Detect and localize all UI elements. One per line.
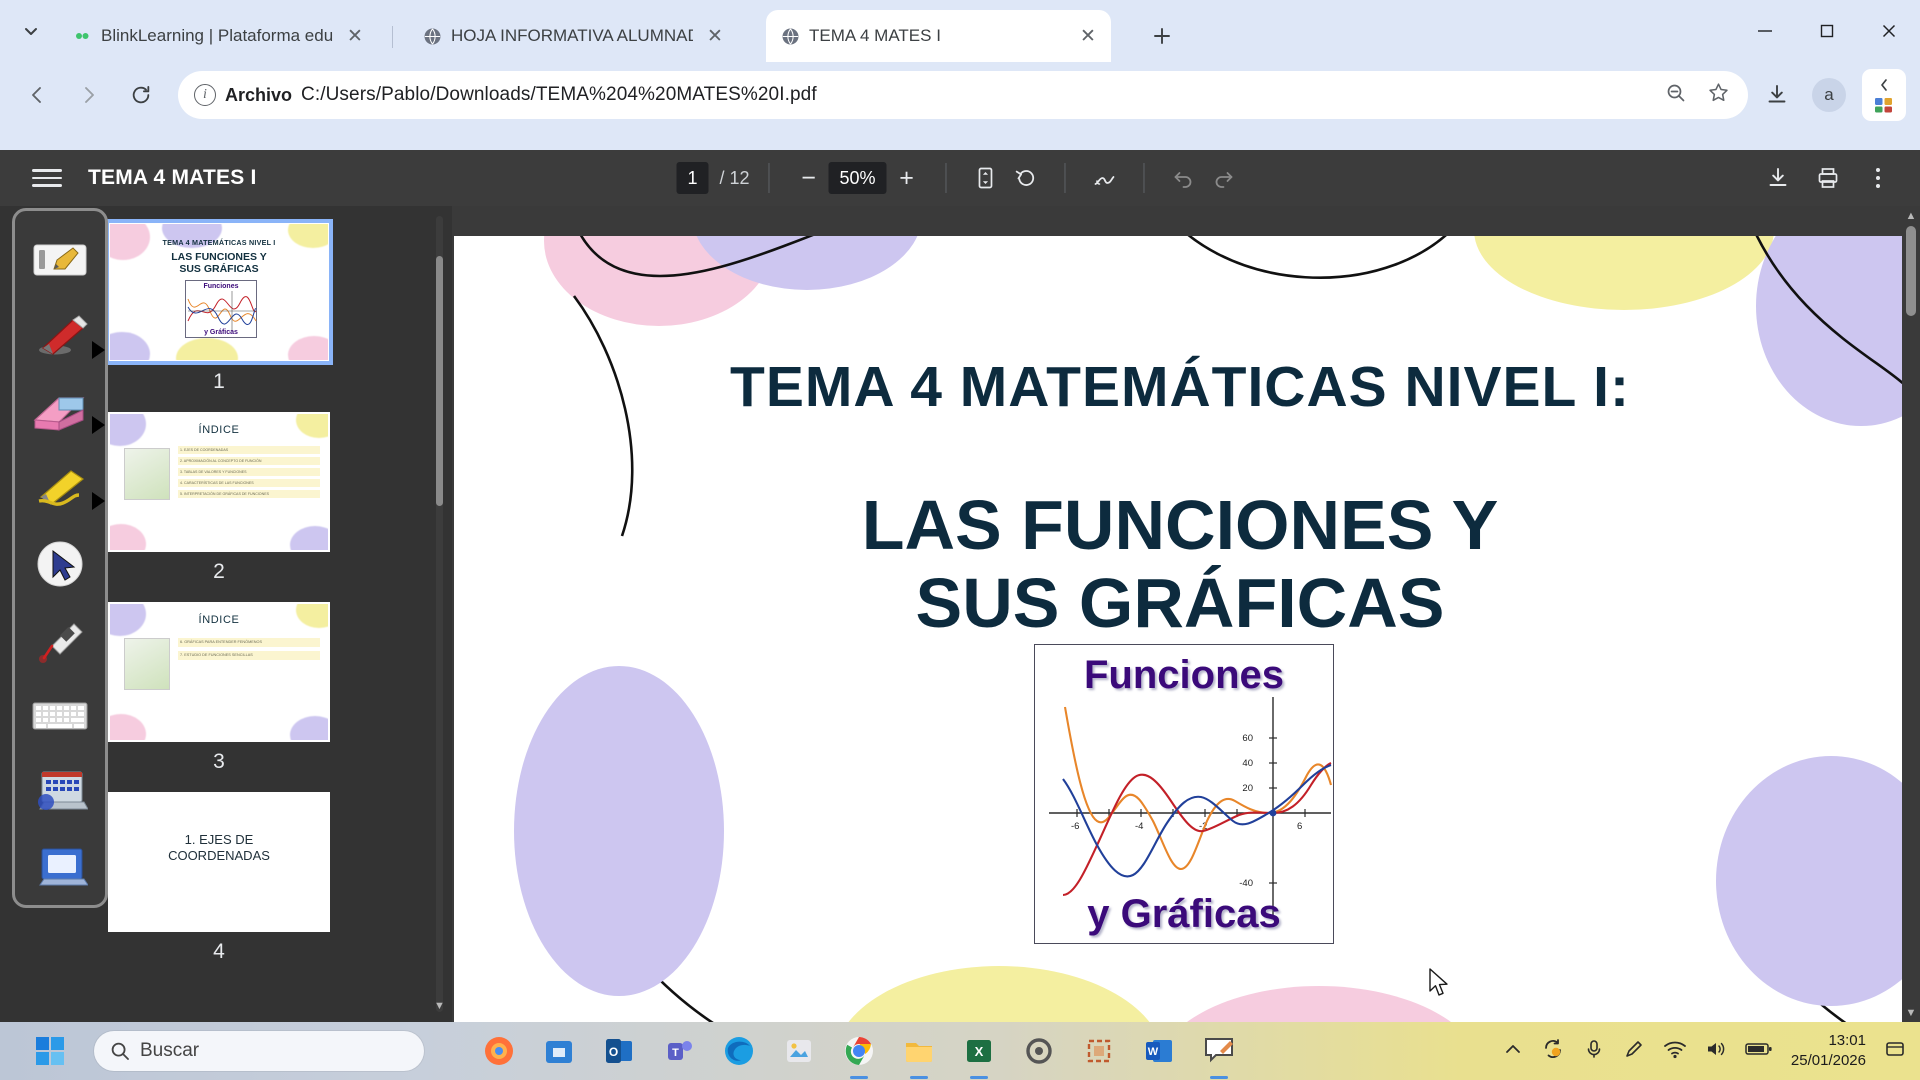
minimize-button[interactable]: [1734, 0, 1796, 62]
start-icon: [36, 1037, 64, 1065]
screen-capture-icon: [32, 768, 88, 814]
page-pane: TEMA 4 MATEMÁTICAS NIVEL I: LAS FUNCIONE…: [452, 206, 1920, 1022]
screen-record-tool[interactable]: [17, 829, 103, 905]
new-tab-button[interactable]: [1140, 14, 1184, 58]
close-icon[interactable]: ✕: [1075, 23, 1101, 49]
zoom-in-button[interactable]: +: [887, 158, 927, 198]
laser-pointer-icon: [32, 616, 88, 664]
mini-heading: ÍNDICE: [110, 424, 328, 436]
close-icon[interactable]: ✕: [342, 23, 368, 49]
mini-title-1: TEMA 4 MATEMÁTICAS NIVEL I: [110, 238, 328, 247]
on-screen-keyboard-tool[interactable]: [17, 678, 103, 754]
mini-index-item: 7. ESTUDIO DE FUNCIONES SENCILLAS: [178, 651, 320, 660]
thumbnail-page-2[interactable]: ÍNDICE 1. EJES DE COORDENADAS 2. APROXIM…: [108, 412, 330, 584]
more-vertical-icon[interactable]: [1858, 158, 1898, 198]
blob-purple-left: [514, 666, 724, 996]
taskbar-clock[interactable]: 13:01 25/01/2026: [1791, 1031, 1866, 1072]
print-icon[interactable]: [1808, 158, 1848, 198]
back-icon[interactable]: [14, 72, 60, 118]
svg-text:W: W: [1148, 1046, 1159, 1058]
taskbar-apps: O T X: [476, 1028, 1242, 1074]
scrollbar-thumb[interactable]: [1906, 226, 1916, 316]
mini-index-item: 4. CARACTERÍSTICAS DE LAS FUNCIONES: [178, 479, 320, 487]
edge-icon[interactable]: [716, 1028, 762, 1074]
globe-icon: [422, 26, 442, 46]
pdf-body: TEMA 4 MATEMÁTICAS NIVEL I LAS FUNCIONES…: [0, 206, 1920, 1022]
page-total-label: / 12: [719, 168, 749, 189]
whiteboard-icon[interactable]: [1196, 1028, 1242, 1074]
address-bar[interactable]: i Archivo C:/Users/Pablo/Downloads/TEMA%…: [178, 71, 1748, 119]
mini-section-title: 1. EJES DE COORDENADAS: [110, 832, 328, 865]
forward-icon[interactable]: [66, 72, 112, 118]
whiteboard-pen-icon: [32, 241, 88, 281]
store-icon[interactable]: [536, 1028, 582, 1074]
url-text: C:/Users/Pablo/Downloads/TEMA%204%20MATE…: [301, 84, 817, 106]
clock-date: 25/01/2026: [1791, 1051, 1866, 1071]
chevron-right-icon[interactable]: [92, 492, 105, 510]
window-controls: [1734, 0, 1920, 62]
laser-pointer-tool[interactable]: [17, 602, 103, 678]
tab-search-icon[interactable]: [10, 10, 52, 52]
chrome-icon[interactable]: [836, 1028, 882, 1074]
teams-icon[interactable]: T: [656, 1028, 702, 1074]
svg-text:O: O: [609, 1045, 618, 1059]
snipping-tool-icon[interactable]: [1076, 1028, 1122, 1074]
volume-icon[interactable]: [1705, 1039, 1727, 1064]
mini-figure: Funciones y Gráficas: [185, 280, 257, 338]
page-scrollbar[interactable]: ▲ ▼: [1902, 206, 1920, 1022]
slide-title-block: LAS FUNCIONES Y SUS GRÁFICAS: [454, 486, 1906, 643]
mini-slide-cover: TEMA 4 MATEMÁTICAS NIVEL I LAS FUNCIONES…: [110, 224, 328, 360]
chart-series-orange: [1065, 707, 1331, 869]
scrollbar-track: [1906, 224, 1916, 1004]
slide-title-line-2: LAS FUNCIONES Y: [862, 486, 1499, 564]
svg-text:-4: -4: [1135, 821, 1143, 832]
pen-icon[interactable]: [1623, 1038, 1645, 1065]
thumbnail-preview: ÍNDICE 1. EJES DE COORDENADAS 2. APROXIM…: [108, 412, 330, 552]
chart-axes: [1049, 697, 1331, 915]
svg-text:-40: -40: [1239, 878, 1253, 889]
close-icon[interactable]: ✕: [702, 23, 728, 49]
thumbnail-preview: 1. EJES DE COORDENADAS: [108, 792, 330, 932]
figure-caption-bottom: y Gráficas: [1035, 892, 1333, 937]
highlighter-tool[interactable]: [17, 450, 103, 526]
tab-title: TEMA 4 MATES I: [809, 26, 1066, 46]
mini-index-items: 1. EJES DE COORDENADAS 2. APROXIMACIÓN A…: [178, 446, 320, 501]
mini-slide-index: ÍNDICE 1. EJES DE COORDENADAS 2. APROXIM…: [110, 414, 328, 550]
omnibox-bar: i Archivo C:/Users/Pablo/Downloads/TEMA%…: [0, 62, 1920, 128]
browser-tab-1[interactable]: BlinkLearning | Plataforma educ ✕: [58, 10, 378, 62]
mini-section-line-1: 1. EJES DE: [185, 832, 254, 847]
chevron-right-icon[interactable]: [92, 341, 105, 359]
svg-text:20: 20: [1242, 783, 1253, 794]
chevron-up-icon[interactable]: [1503, 1039, 1523, 1064]
clock-time: 13:01: [1791, 1031, 1866, 1051]
thumbnail-number: 1: [108, 370, 330, 394]
chevron-right-icon[interactable]: [92, 416, 105, 434]
cursor-select-tool[interactable]: [17, 526, 103, 602]
extensions-icon: [1873, 96, 1895, 114]
mini-index-item: 2. APROXIMACIÓN AL CONCEPTO DE FUNCIÓN: [178, 457, 320, 465]
thumbnail-number: 4: [108, 940, 330, 964]
mini-heading: ÍNDICE: [110, 614, 328, 626]
pdf-toolbar-right: [1758, 158, 1920, 198]
highlighter-icon: [29, 465, 91, 511]
search-placeholder: Buscar: [140, 1040, 199, 1062]
redo-icon[interactable]: [1204, 158, 1244, 198]
omnibox-actions: [1665, 81, 1734, 109]
divider: [1065, 163, 1066, 193]
chrome-window: BlinkLearning | Plataforma educ ✕ HOJA I…: [0, 0, 1920, 1022]
chevron-left-icon: [1874, 77, 1894, 93]
mini-title-3: SUS GRÁFICAS: [110, 263, 328, 275]
chart-series-red: [1063, 763, 1331, 895]
tab-strip: BlinkLearning | Plataforma educ ✕ HOJA I…: [0, 0, 1920, 62]
sync-icon[interactable]: [1541, 1037, 1565, 1066]
thumbnail-preview: TEMA 4 MATEMÁTICAS NIVEL I LAS FUNCIONES…: [108, 222, 330, 362]
file-explorer-icon[interactable]: [896, 1028, 942, 1074]
thumbnail-scrollbar[interactable]: ▲ ▼: [433, 216, 445, 1012]
mini-slide-section: 1. EJES DE COORDENADAS: [110, 794, 328, 930]
firefox-icon[interactable]: [476, 1028, 522, 1074]
functions-figure: Funciones: [1034, 644, 1334, 944]
close-button[interactable]: [1858, 0, 1920, 62]
keyboard-icon: [32, 701, 88, 731]
svg-text:X: X: [975, 1044, 984, 1059]
zoom-out-icon[interactable]: [1665, 82, 1687, 109]
mini-index-items: 6. GRÁFICAS PARA ENTENDER FENÓMENOS 7. E…: [178, 638, 320, 664]
reload-icon[interactable]: [118, 72, 164, 118]
svg-text:-6: -6: [1071, 821, 1079, 832]
mini-title-2: LAS FUNCIONES Y: [110, 251, 328, 263]
thumbnail-number: 3: [108, 750, 330, 774]
mini-index-item: 6. GRÁFICAS PARA ENTENDER FENÓMENOS: [178, 638, 320, 647]
annotation-toolbar: [12, 208, 108, 908]
svg-text:T: T: [672, 1047, 679, 1059]
scroll-down-icon[interactable]: ▼: [433, 999, 446, 1012]
profile-avatar[interactable]: a: [1806, 72, 1852, 118]
slide-title-line-1: TEMA 4 MATEMÁTICAS NIVEL I:: [454, 354, 1906, 420]
globe-icon: [780, 26, 800, 46]
photos-icon[interactable]: [776, 1028, 822, 1074]
mini-illustration: [124, 638, 170, 690]
zoom-out-button[interactable]: −: [789, 158, 829, 198]
thumbnail-page-3[interactable]: ÍNDICE 6. GRÁFICAS PARA ENTENDER FENÓMEN…: [108, 602, 330, 774]
whiteboard-pen-tool[interactable]: [17, 223, 103, 299]
windows-taskbar: Buscar O T: [0, 1022, 1920, 1080]
scroll-up-icon[interactable]: ▲: [1905, 209, 1917, 222]
info-icon[interactable]: i: [194, 84, 216, 106]
thumbnail-preview: ÍNDICE 6. GRÁFICAS PARA ENTENDER FENÓMEN…: [108, 602, 330, 742]
mini-section-line-2: COORDENADAS: [168, 848, 270, 863]
divider: [946, 163, 947, 193]
taskbar-search[interactable]: Buscar: [94, 1031, 424, 1071]
star-icon[interactable]: [1707, 81, 1730, 109]
download-icon[interactable]: [1758, 158, 1798, 198]
screen-capture-tool[interactable]: [17, 753, 103, 829]
svg-text:40: 40: [1242, 758, 1253, 769]
thumbnail-page-4[interactable]: 1. EJES DE COORDENADAS 4: [108, 792, 330, 964]
cursor-icon: [34, 538, 86, 590]
screen: BlinkLearning | Plataforma educ ✕ HOJA I…: [0, 0, 1920, 1080]
chart-origin-marker: [1270, 810, 1277, 817]
mini-illustration: [124, 448, 170, 500]
microphone-icon[interactable]: [1583, 1038, 1605, 1065]
scrollbar-thumb[interactable]: [436, 256, 443, 506]
outlook-icon[interactable]: O: [596, 1028, 642, 1074]
avatar: a: [1812, 78, 1846, 112]
thumbnail-page-1[interactable]: TEMA 4 MATEMÁTICAS NIVEL I LAS FUNCIONES…: [108, 222, 330, 394]
thumbnail-number: 2: [108, 560, 330, 584]
tab-divider: [392, 26, 393, 48]
page-number-input[interactable]: 1: [676, 162, 708, 194]
divider: [769, 163, 770, 193]
maximize-button[interactable]: [1796, 0, 1858, 62]
settings-icon[interactable]: [1016, 1028, 1062, 1074]
svg-text:60: 60: [1242, 733, 1253, 744]
word-icon[interactable]: W: [1136, 1028, 1182, 1074]
pdf-page-canvas[interactable]: TEMA 4 MATEMÁTICAS NIVEL I: LAS FUNCIONE…: [454, 236, 1906, 1022]
pdf-viewer: TEMA 4 MATES I 1 / 12 − 50% +: [0, 150, 1920, 1022]
annotate-icon[interactable]: [1085, 158, 1125, 198]
zoom-level-value[interactable]: 50%: [829, 162, 887, 194]
mini-index-item: 3. TABLAS DE VALORES Y FUNCIONES: [178, 468, 320, 476]
tab-title: BlinkLearning | Plataforma educ: [101, 26, 333, 46]
wifi-icon[interactable]: [1663, 1039, 1687, 1064]
download-icon[interactable]: [1754, 72, 1800, 118]
undo-icon[interactable]: [1164, 158, 1204, 198]
divider: [1144, 163, 1145, 193]
hamburger-icon[interactable]: [32, 169, 62, 186]
notification-icon[interactable]: [1884, 1038, 1906, 1065]
start-button[interactable]: [22, 1037, 78, 1065]
eraser-icon: [29, 390, 91, 434]
mini-index-item: 5. INTERPRETACIÓN DE GRÁFICAS DE FUNCION…: [178, 490, 320, 498]
red-pen-icon: [29, 314, 91, 360]
eraser-tool[interactable]: [17, 375, 103, 451]
excel-icon[interactable]: X: [956, 1028, 1002, 1074]
rotate-icon[interactable]: [1006, 158, 1046, 198]
slide-title-line-3: SUS GRÁFICAS: [916, 564, 1445, 642]
scroll-down-icon[interactable]: ▼: [1905, 1006, 1917, 1019]
pdf-toolbar: TEMA 4 MATES I 1 / 12 − 50% +: [0, 150, 1920, 206]
search-icon: [110, 1041, 130, 1061]
pdf-document-title: TEMA 4 MATES I: [88, 166, 256, 190]
pdf-toolbar-center: 1 / 12 − 50% +: [676, 158, 1243, 198]
browser-tab-2[interactable]: HOJA INFORMATIVA ALUMNAD ✕: [408, 10, 738, 62]
scheme-label: Archivo: [225, 85, 292, 106]
fit-page-icon[interactable]: [966, 158, 1006, 198]
blinklearning-icon: [72, 26, 92, 46]
battery-icon[interactable]: [1745, 1041, 1773, 1062]
svg-text:6: 6: [1297, 821, 1302, 832]
tab-title: HOJA INFORMATIVA ALUMNAD: [451, 26, 693, 46]
red-pen-tool[interactable]: [17, 299, 103, 375]
screen-record-icon: [32, 845, 88, 889]
mini-slide-index-2: ÍNDICE 6. GRÁFICAS PARA ENTENDER FENÓMEN…: [110, 604, 328, 740]
mini-figure-caption-bottom: y Gráficas: [186, 329, 256, 336]
mini-index-item: 1. EJES DE COORDENADAS: [178, 446, 320, 454]
browser-tab-3[interactable]: TEMA 4 MATES I ✕: [766, 10, 1111, 62]
taskbar-tray: 13:01 25/01/2026: [1503, 1031, 1920, 1072]
side-panel-button[interactable]: [1862, 69, 1906, 121]
